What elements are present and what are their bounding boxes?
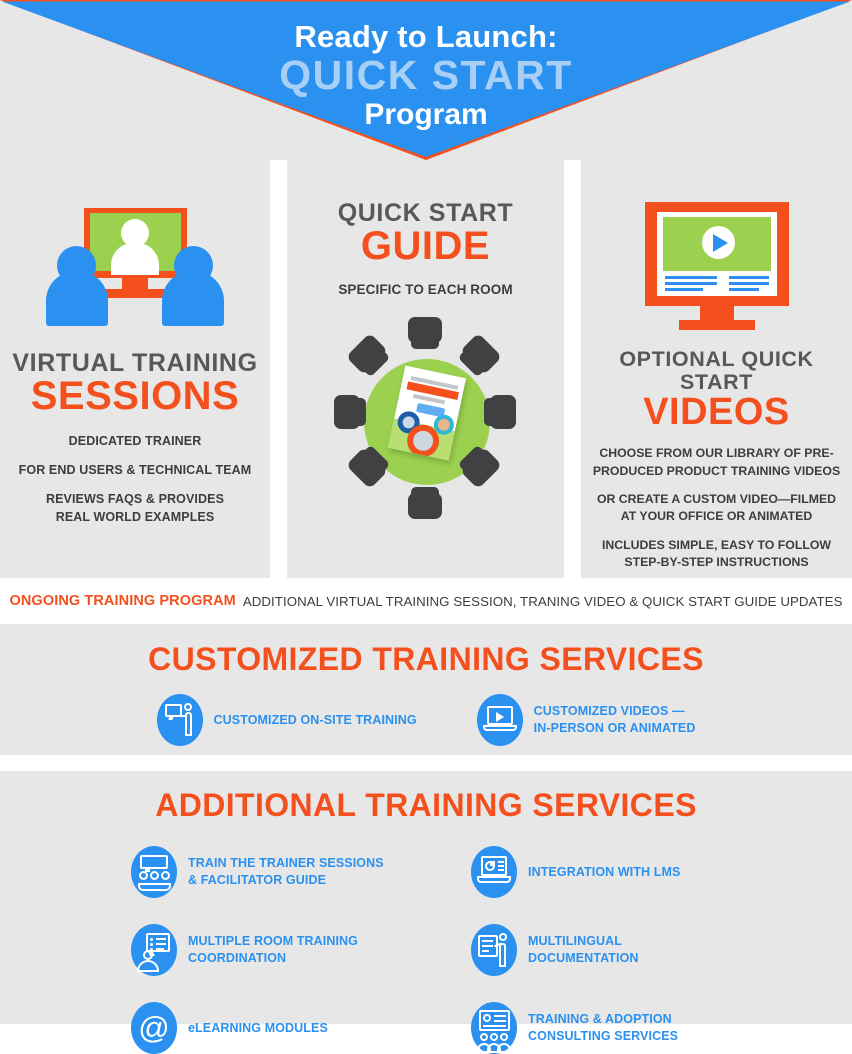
column-3-heading-orange: VIDEOS (581, 393, 852, 431)
chair (408, 493, 442, 519)
classroom-screen-icon (131, 846, 177, 898)
three-column-section: VIRTUAL TRAINING SESSIONS DEDICATED TRAI… (0, 160, 852, 578)
hero-text-block: Ready to Launch: QUICK START Program (0, 0, 852, 132)
column-2-subtitle: SPECIFIC TO EACH ROOM (287, 280, 564, 299)
column-3-bullet-3: INCLUDES SIMPLE, EASY TO FOLLOW STEP-BY-… (581, 537, 852, 572)
column-2-heading-orange: GUIDE (287, 226, 564, 266)
additional-title: ADDITIONAL TRAINING SERVICES (0, 771, 852, 824)
hero-line-1: Ready to Launch: (0, 20, 852, 53)
additional-left-1-label: MULTIPLE ROOM TRAINING COORDINATION (188, 933, 358, 967)
chair (490, 395, 516, 429)
additional-training-section: ADDITIONAL TRAINING SERVICES TRAIN THE T… (0, 771, 852, 1024)
column-1-heading-gray: VIRTUAL TRAINING (0, 350, 270, 376)
chair (346, 333, 388, 375)
column-3-heading-gray: OPTIONAL QUICK START (581, 348, 852, 393)
additional-left-2-label: eLEARNING MODULES (188, 1020, 328, 1037)
presenter-icon (157, 694, 203, 746)
hero-banner: Ready to Launch: QUICK START Program (0, 0, 852, 160)
additional-right-2-label: TRAINING & ADOPTION CONSULTING SERVICES (528, 1011, 678, 1045)
additional-left-0-label: TRAIN THE TRAINER SESSIONS & FACILITATOR… (188, 855, 384, 889)
column-2-heading-gray: QUICK START (287, 200, 564, 226)
additional-right-0-label: INTEGRATION WITH LMS (528, 864, 680, 881)
customized-item-videos[interactable]: CUSTOMIZED VIDEOS — IN-PERSON OR ANIMATE… (477, 694, 696, 746)
additional-right-1-label: MULTILINGUAL DOCUMENTATION (528, 933, 639, 967)
column-1-bullet-3: REVIEWS FAQS & PROVIDES REAL WORLD EXAMP… (0, 491, 270, 527)
at-sign-icon: @ (131, 1002, 177, 1054)
virtual-training-icon (49, 208, 221, 326)
customized-item-1-label: CUSTOMIZED VIDEOS — IN-PERSON OR ANIMATE… (534, 703, 696, 737)
hero-line-3: Program (0, 99, 852, 131)
ongoing-label: ONGOING TRAINING PROGRAM (9, 593, 235, 609)
column-1-bullet-2: FOR END USERS & TECHNICAL TEAM (0, 462, 270, 480)
video-monitor-icon (637, 202, 797, 330)
customized-item-onsite[interactable]: CUSTOMIZED ON-SITE TRAINING (157, 694, 417, 746)
additional-column-left: TRAIN THE TRAINER SESSIONS & FACILITATOR… (131, 846, 423, 1054)
column-1-bullet-1: DEDICATED TRAINER (0, 433, 270, 451)
chair (334, 395, 360, 429)
column-virtual-training: VIRTUAL TRAINING SESSIONS DEDICATED TRAI… (0, 160, 270, 578)
additional-item-adoption-consulting[interactable]: TRAINING & ADOPTION CONSULTING SERVICES (471, 1002, 721, 1054)
ongoing-description: ADDITIONAL VIRTUAL TRAINING SESSION, TRA… (243, 594, 843, 609)
laptop-chart-icon (471, 846, 517, 898)
additional-item-elearning[interactable]: @ eLEARNING MODULES (131, 1002, 423, 1054)
additional-item-multilingual[interactable]: MULTILINGUAL DOCUMENTATION (471, 924, 721, 976)
presenter-board-icon (471, 924, 517, 976)
person-checklist-icon (131, 924, 177, 976)
laptop-play-icon (477, 694, 523, 746)
column-3-bullet-1: CHOOSE FROM OUR LIBRARY OF PRE- PRODUCED… (581, 445, 852, 480)
additional-column-right: INTEGRATION WITH LMS MULTILINGUAL DOCUME… (471, 846, 721, 1054)
customized-training-section: CUSTOMIZED TRAINING SERVICES CUSTOMIZED … (0, 624, 852, 755)
additional-items-grid: TRAIN THE TRAINER SESSIONS & FACILITATOR… (0, 846, 852, 1054)
column-quick-start-videos: OPTIONAL QUICK START VIDEOS CHOOSE FROM … (581, 160, 852, 578)
additional-item-multiple-room[interactable]: MULTIPLE ROOM TRAINING COORDINATION (131, 924, 423, 976)
infographic-page: Ready to Launch: QUICK START Program VIR… (0, 0, 852, 1024)
whiteboard-audience-icon (471, 1002, 517, 1054)
customized-items-row: CUSTOMIZED ON-SITE TRAINING CUSTOMIZED V… (0, 694, 852, 746)
customized-title: CUSTOMIZED TRAINING SERVICES (0, 624, 852, 678)
hero-line-2: QUICK START (0, 53, 852, 99)
ongoing-training-bar: ONGOING TRAINING PROGRAM ADDITIONAL VIRT… (0, 578, 852, 624)
conference-table-icon (318, 315, 533, 530)
column-1-heading-orange: SESSIONS (0, 376, 270, 416)
customized-item-0-label: CUSTOMIZED ON-SITE TRAINING (214, 712, 417, 729)
column-quick-start-guide: QUICK START GUIDE SPECIFIC TO EACH ROOM (287, 160, 564, 578)
additional-item-train-the-trainer[interactable]: TRAIN THE TRAINER SESSIONS & FACILITATOR… (131, 846, 423, 898)
chair (408, 317, 442, 343)
chair (460, 333, 502, 375)
column-3-bullet-2: OR CREATE A CUSTOM VIDEO—FILMED AT YOUR … (581, 491, 852, 526)
additional-item-lms[interactable]: INTEGRATION WITH LMS (471, 846, 721, 898)
